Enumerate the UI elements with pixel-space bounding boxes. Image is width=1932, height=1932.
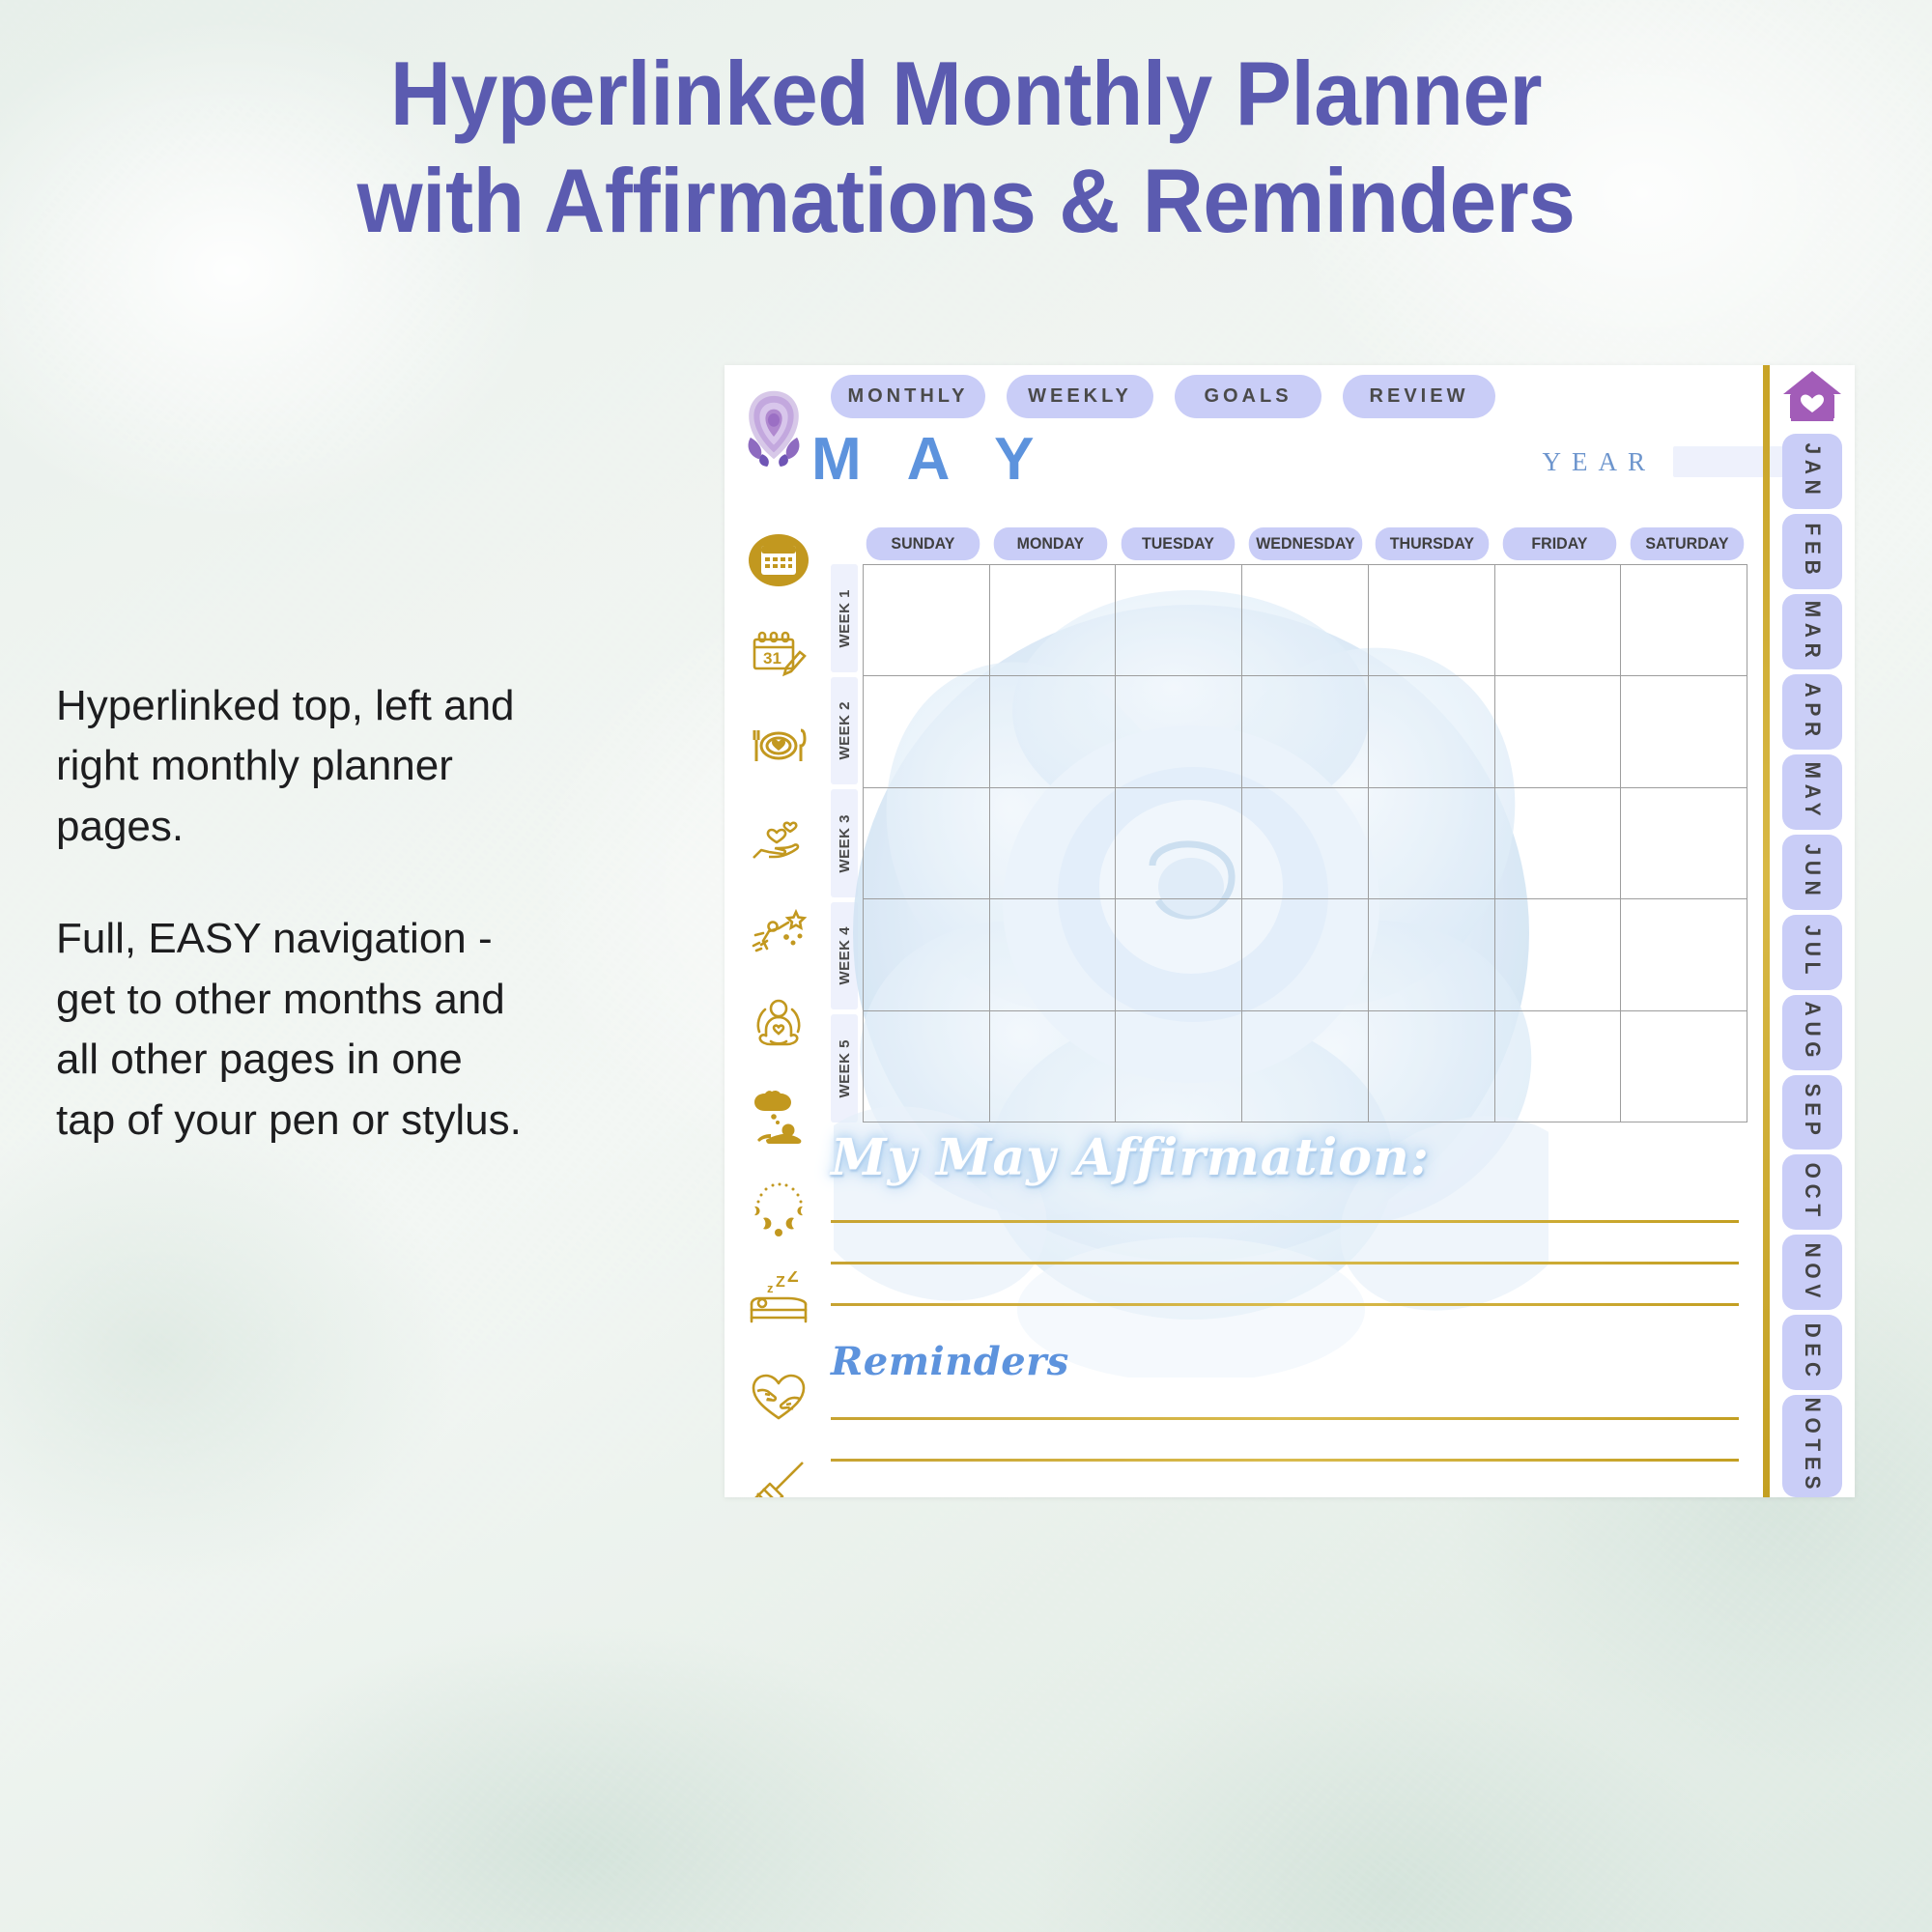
- weekday-saturday[interactable]: SATURDAY: [1631, 527, 1744, 560]
- month-tab-jul[interactable]: JUL: [1782, 915, 1842, 990]
- planner-top-nav: MONTHLY WEEKLY GOALS REVIEW: [831, 375, 1495, 418]
- day-cell[interactable]: [1369, 899, 1495, 1010]
- day-cell[interactable]: [1369, 565, 1495, 676]
- day-cell[interactable]: [1242, 1011, 1369, 1122]
- day-cell[interactable]: [1621, 1011, 1747, 1122]
- meditation-icon[interactable]: [748, 993, 810, 1055]
- month-tab-apr[interactable]: APR: [1782, 674, 1842, 750]
- svg-text:Z: Z: [776, 1274, 785, 1291]
- day-cell[interactable]: [864, 788, 990, 899]
- page-title-line2: with Affirmations & Reminders: [68, 148, 1864, 255]
- weekday-friday[interactable]: FRIDAY: [1503, 527, 1616, 560]
- page-title-line1: Hyperlinked Monthly Planner: [390, 43, 1542, 144]
- week-label-column: WEEK 1 WEEK 2 WEEK 3 WEEK 4 WEEK 5: [831, 564, 858, 1122]
- month-navigation-rail: JAN FEB MAR APR MAY JUN JUL AUG SEP OCT …: [1770, 365, 1855, 1497]
- month-tab-dec[interactable]: DEC: [1782, 1315, 1842, 1390]
- day-cell[interactable]: [1621, 565, 1747, 676]
- month-tab-dec-label: DEC: [1800, 1323, 1825, 1382]
- day-cell[interactable]: [1621, 788, 1747, 899]
- broom-icon[interactable]: [748, 1457, 810, 1497]
- month-tab-feb-label: FEB: [1800, 523, 1825, 580]
- week-label-1-text: WEEK 1: [837, 589, 853, 648]
- month-tab-notes-label: NOTES: [1800, 1398, 1825, 1495]
- description-paragraph-1: Hyperlinked top, left and right monthly …: [56, 676, 529, 857]
- week-label-1[interactable]: WEEK 1: [831, 564, 858, 672]
- day-cell[interactable]: [1369, 676, 1495, 787]
- dreaming-person-icon[interactable]: [748, 1086, 810, 1148]
- month-tab-aug[interactable]: AUG: [1782, 995, 1842, 1070]
- month-title: M A Y: [811, 425, 1050, 494]
- month-tab-may-label: MAY: [1800, 762, 1825, 822]
- week-label-2[interactable]: WEEK 2: [831, 677, 858, 785]
- day-cell[interactable]: [1495, 788, 1622, 899]
- svg-text:Z: Z: [787, 1271, 799, 1287]
- day-cell[interactable]: [1242, 676, 1369, 787]
- weekday-thursday[interactable]: THURSDAY: [1376, 527, 1489, 560]
- month-tab-apr-label: APR: [1800, 682, 1825, 741]
- month-tab-notes[interactable]: NOTES: [1782, 1395, 1842, 1497]
- month-tab-sep-label: SEP: [1800, 1084, 1825, 1141]
- week-label-5-text: WEEK 5: [837, 1039, 853, 1098]
- svg-text:z: z: [767, 1281, 774, 1295]
- reaching-star-icon[interactable]: [748, 900, 810, 962]
- nav-tab-monthly[interactable]: MONTHLY: [831, 375, 985, 418]
- reminders-line-1[interactable]: [831, 1417, 1739, 1420]
- day-cell[interactable]: [864, 565, 990, 676]
- day-cell[interactable]: [1369, 788, 1495, 899]
- nav-tab-goals[interactable]: GOALS: [1175, 375, 1321, 418]
- day-cell[interactable]: [1116, 899, 1242, 1010]
- day-cell[interactable]: [1621, 899, 1747, 1010]
- month-tab-nov-label: NOV: [1800, 1242, 1825, 1302]
- day-cell[interactable]: [1116, 565, 1242, 676]
- home-heart-icon[interactable]: [1781, 369, 1843, 425]
- hand-hearts-icon[interactable]: [748, 808, 810, 869]
- planner-page-preview: MONTHLY WEEKLY GOALS REVIEW M A Y YEAR S…: [724, 365, 1855, 1497]
- moon-phases-icon[interactable]: [748, 1179, 810, 1240]
- month-tab-jan-label: JAN: [1800, 443, 1825, 500]
- nav-tab-weekly[interactable]: WEEKLY: [1007, 375, 1153, 418]
- calendar-filled-icon[interactable]: [748, 529, 810, 591]
- week-label-3-text: WEEK 3: [837, 814, 853, 873]
- calendar-day-grid: [863, 564, 1747, 1122]
- weekday-tuesday[interactable]: TUESDAY: [1121, 527, 1234, 560]
- day-cell[interactable]: [990, 1011, 1117, 1122]
- weekday-wednesday[interactable]: WEDNESDAY: [1248, 527, 1361, 560]
- day-cell[interactable]: [864, 676, 990, 787]
- day-cell[interactable]: [1242, 788, 1369, 899]
- day-cell[interactable]: [1242, 899, 1369, 1010]
- nav-tab-review[interactable]: REVIEW: [1343, 375, 1495, 418]
- day-cell[interactable]: [990, 788, 1117, 899]
- affirmation-section: My May Affirmation: Reminders: [831, 1128, 1739, 1497]
- month-tab-nov[interactable]: NOV: [1782, 1235, 1842, 1310]
- meal-heart-icon[interactable]: [748, 715, 810, 777]
- left-icon-rail: 31: [734, 529, 823, 1497]
- day-cell[interactable]: [1621, 676, 1747, 787]
- description-paragraph-2: Full, EASY navigation - get to other mon…: [56, 909, 529, 1151]
- week-label-2-text: WEEK 2: [837, 701, 853, 760]
- month-tab-oct-label: OCT: [1800, 1163, 1825, 1222]
- month-tab-sep[interactable]: SEP: [1782, 1075, 1842, 1151]
- month-tab-mar[interactable]: MAR: [1782, 594, 1842, 669]
- week-label-4-text: WEEK 4: [837, 926, 853, 985]
- day-cell[interactable]: [1116, 788, 1242, 899]
- day-cell[interactable]: [1495, 1011, 1622, 1122]
- day-cell[interactable]: [990, 676, 1117, 787]
- sleep-bed-icon[interactable]: z Z Z: [748, 1271, 810, 1333]
- day-cell[interactable]: [1369, 1011, 1495, 1122]
- affirmation-line-1[interactable]: [831, 1220, 1739, 1223]
- reminders-title: Reminders: [831, 1339, 1739, 1384]
- reminders-line-2[interactable]: [831, 1459, 1739, 1462]
- weekday-sunday[interactable]: SUNDAY: [867, 527, 980, 560]
- month-tab-mar-label: MAR: [1800, 600, 1825, 663]
- day-cell[interactable]: [864, 899, 990, 1010]
- description-copy: Hyperlinked top, left and right monthly …: [56, 676, 529, 1151]
- month-tab-may[interactable]: MAY: [1782, 754, 1842, 830]
- affirmation-line-2[interactable]: [831, 1262, 1739, 1264]
- week-label-3[interactable]: WEEK 3: [831, 789, 858, 897]
- month-tab-jul-label: JUL: [1800, 924, 1825, 980]
- day-cell[interactable]: [1242, 565, 1369, 676]
- week-label-4[interactable]: WEEK 4: [831, 902, 858, 1010]
- month-tab-jan[interactable]: JAN: [1782, 434, 1842, 509]
- month-tab-jun-label: JUN: [1800, 843, 1825, 900]
- affirmation-line-3[interactable]: [831, 1303, 1739, 1306]
- gold-divider: [1763, 365, 1770, 1497]
- weekday-header-row: SUNDAY MONDAY TUESDAY WEDNESDAY THURSDAY…: [863, 527, 1747, 560]
- day-cell[interactable]: [1495, 676, 1622, 787]
- calendar-31-pencil-icon[interactable]: 31: [748, 622, 810, 684]
- year-label: YEAR: [1543, 447, 1657, 477]
- day-cell[interactable]: [990, 899, 1117, 1010]
- day-cell[interactable]: [864, 1011, 990, 1122]
- month-tab-jun[interactable]: JUN: [1782, 835, 1842, 910]
- day-cell[interactable]: [1116, 1011, 1242, 1122]
- affirmation-title: My May Affirmation:: [831, 1128, 1739, 1187]
- weekday-monday[interactable]: MONDAY: [994, 527, 1107, 560]
- page-title: Hyperlinked Monthly Planner with Affirma…: [68, 41, 1864, 255]
- hands-heart-icon[interactable]: [748, 1364, 810, 1426]
- month-tab-aug-label: AUG: [1800, 1002, 1825, 1064]
- week-label-5[interactable]: WEEK 5: [831, 1014, 858, 1122]
- calendar-grid-area: [863, 564, 1747, 1122]
- day-cell[interactable]: [1495, 565, 1622, 676]
- day-cell[interactable]: [1116, 676, 1242, 787]
- purple-rose-icon: [732, 379, 815, 471]
- day-cell[interactable]: [1495, 899, 1622, 1010]
- day-cell[interactable]: [990, 565, 1117, 676]
- month-tab-feb[interactable]: FEB: [1782, 514, 1842, 589]
- month-tab-oct[interactable]: OCT: [1782, 1154, 1842, 1230]
- svg-text:31: 31: [763, 649, 781, 668]
